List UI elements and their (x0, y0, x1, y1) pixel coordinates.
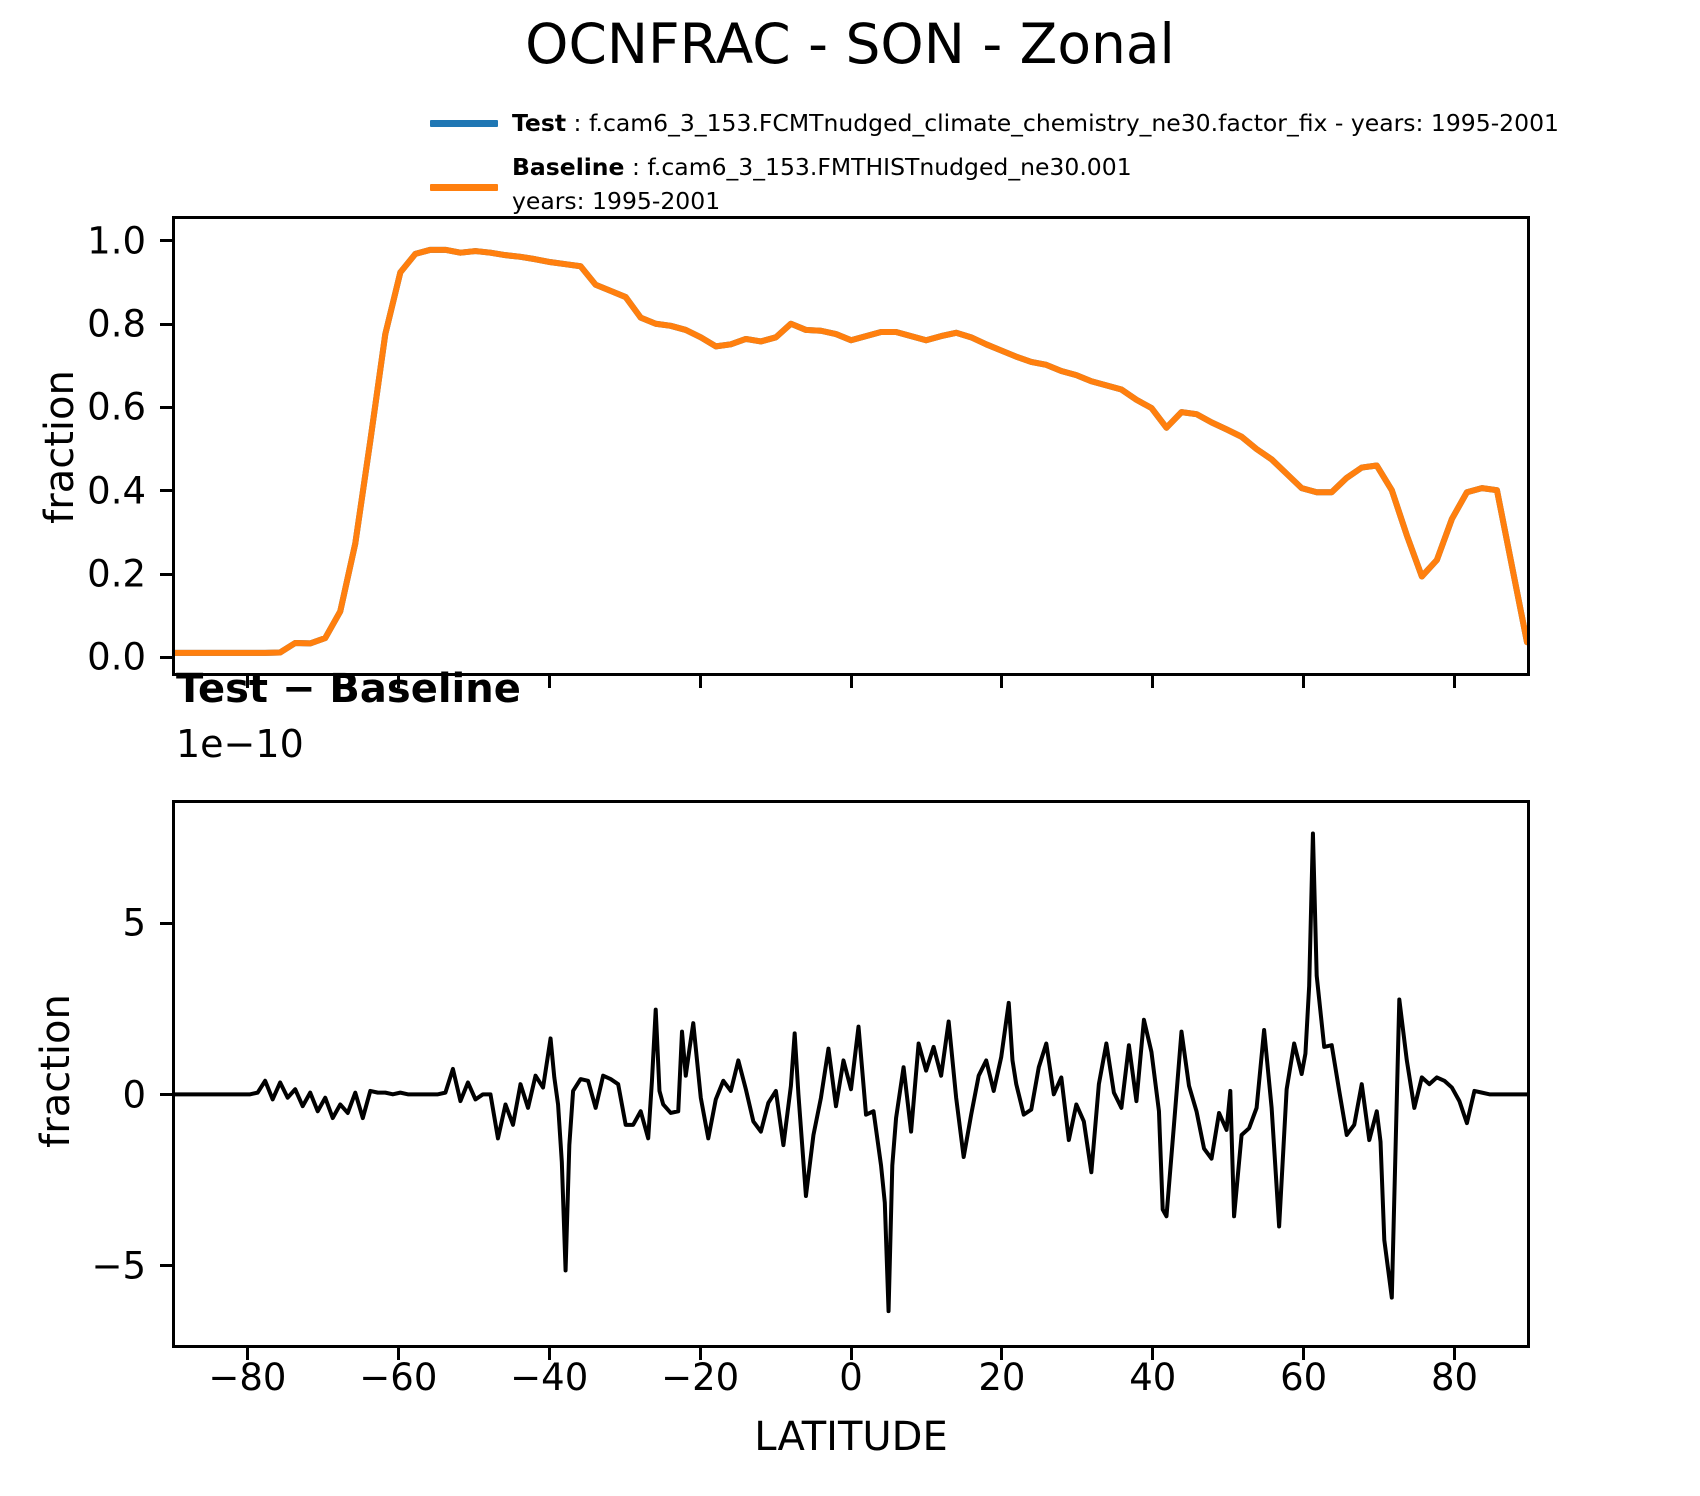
xtickmark-0 (246, 1348, 249, 1360)
xtickmark-6 (1151, 1348, 1154, 1360)
xtickmark-4 (850, 1348, 853, 1360)
bottom-ytickmark-0 (160, 1264, 172, 1267)
difference-panel-title: Test − Baseline (176, 666, 521, 712)
xtick-5: 20 (978, 1356, 1025, 1399)
zonal-mean-plot-area (172, 216, 1530, 676)
xtick-6: 40 (1129, 1356, 1176, 1399)
zonal-mean-y-ticklabels: 0.00.20.40.60.81.0 (8, 216, 158, 676)
legend-swatch-baseline (430, 184, 498, 191)
top-xtickmark-8 (1453, 676, 1456, 688)
difference-plot-area (172, 800, 1530, 1348)
top-ytick-2: 0.4 (87, 469, 146, 512)
xtickmark-1 (397, 1348, 400, 1360)
top-ytick-3: 0.6 (87, 386, 146, 429)
legend-label-test: Test (512, 109, 566, 137)
bottom-ytickmark-2 (160, 922, 172, 925)
difference-y-axis-label: fraction (33, 941, 79, 1201)
top-ytickmark-3 (160, 406, 172, 409)
top-xtickmark-2 (548, 676, 551, 688)
zonal-mean-y-axis-label: fraction (37, 317, 83, 577)
xtick-4: 0 (839, 1356, 863, 1399)
xtickmark-3 (699, 1348, 702, 1360)
xtickmark-5 (1000, 1348, 1003, 1360)
top-ytick-1: 0.2 (87, 553, 146, 596)
top-ytick-0: 0.0 (87, 636, 146, 679)
legend-description-baseline-line2: years: 1995-2001 (512, 184, 1590, 218)
bottom-ytick-2: 5 (122, 902, 146, 945)
x-axis-label: LATITUDE (172, 1414, 1530, 1460)
bottom-ytick-1: 0 (122, 1073, 146, 1116)
xtick-1: −60 (359, 1356, 437, 1399)
xtick-0: −80 (208, 1356, 286, 1399)
top-xtickmark-3 (699, 676, 702, 688)
xtick-3: −20 (661, 1356, 739, 1399)
legend-description-baseline: f.cam6_3_153.FMTHISTnudged_ne30.001 (647, 153, 1131, 181)
series-line-baseline (175, 250, 1527, 653)
figure-canvas: OCNFRAC - SON - Zonal Test : f.cam6_3_15… (0, 0, 1700, 1496)
bottom-ytick-0: −5 (91, 1244, 146, 1287)
zonal-mean-lines (175, 219, 1527, 673)
xtick-8: 80 (1431, 1356, 1478, 1399)
top-ytick-5: 1.0 (87, 219, 146, 262)
difference-y-ticklabels: −505 (8, 800, 158, 1348)
page-title: OCNFRAC - SON - Zonal (0, 12, 1700, 76)
legend: Test : f.cam6_3_153.FCMTnudged_climate_c… (430, 106, 1590, 218)
legend-separator-test: : (566, 109, 589, 137)
top-ytick-4: 0.8 (87, 303, 146, 346)
top-ytickmark-0 (160, 656, 172, 659)
legend-swatch-test (430, 120, 498, 127)
top-ytickmark-5 (160, 239, 172, 242)
xtick-2: −40 (510, 1356, 588, 1399)
top-ytickmark-2 (160, 489, 172, 492)
top-xtickmark-1 (397, 676, 400, 688)
top-xtickmark-0 (246, 676, 249, 688)
top-ytickmark-1 (160, 573, 172, 576)
top-xtickmark-6 (1151, 676, 1154, 688)
xtickmark-7 (1302, 1348, 1305, 1360)
legend-separator-baseline: : (624, 153, 647, 181)
bottom-ytickmark-1 (160, 1093, 172, 1096)
legend-description-test: f.cam6_3_153.FCMTnudged_climate_chemistr… (589, 109, 1559, 137)
difference-y-exponent-label: 1e−10 (176, 722, 304, 766)
series-line-test (175, 250, 1527, 653)
xtickmark-8 (1453, 1348, 1456, 1360)
top-xtickmark-5 (1000, 676, 1003, 688)
legend-label-baseline: Baseline (512, 153, 624, 181)
top-xtickmark-4 (850, 676, 853, 688)
top-ytickmark-4 (160, 323, 172, 326)
series-line-test-baseline (175, 833, 1527, 1311)
top-xtickmark-7 (1302, 676, 1305, 688)
xtickmark-2 (548, 1348, 551, 1360)
legend-entry-test: Test : f.cam6_3_153.FCMTnudged_climate_c… (430, 106, 1590, 144)
legend-entry-baseline: Baseline : f.cam6_3_153.FMTHISTnudged_ne… (430, 150, 1590, 218)
xtick-7: 60 (1280, 1356, 1327, 1399)
difference-line (175, 803, 1527, 1345)
